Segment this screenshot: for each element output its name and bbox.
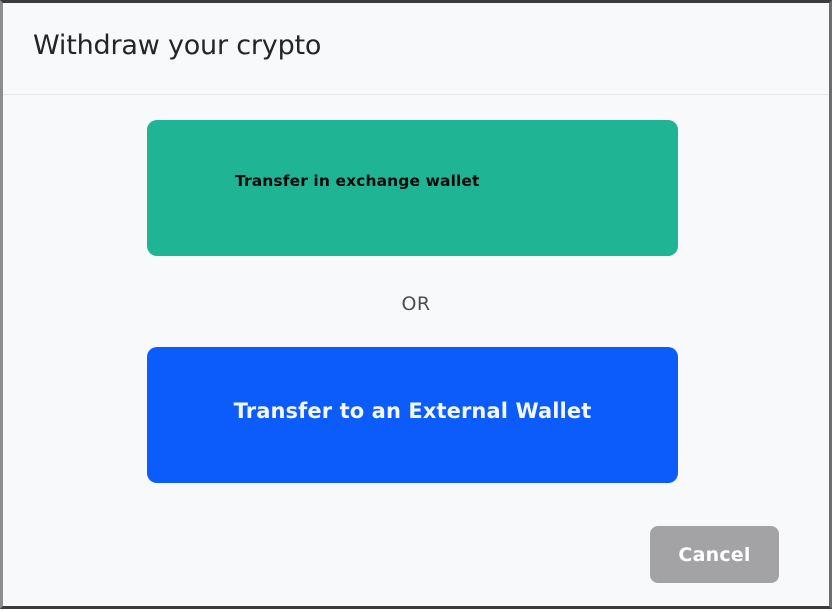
or-divider-label: OR [3, 293, 829, 315]
withdraw-crypto-dialog: Withdraw your crypto Transfer in exchang… [0, 0, 832, 609]
transfer-to-external-wallet-label: Transfer to an External Wallet [147, 399, 678, 423]
transfer-in-exchange-wallet-button[interactable]: Transfer in exchange wallet [147, 120, 678, 256]
dialog-header: Withdraw your crypto [3, 3, 829, 95]
transfer-to-external-wallet-button[interactable]: Transfer to an External Wallet [147, 347, 678, 483]
cancel-button[interactable]: Cancel [650, 526, 779, 583]
transfer-in-exchange-wallet-label: Transfer in exchange wallet [235, 172, 480, 190]
dialog-body: Transfer in exchange wallet OR Transfer … [3, 95, 829, 606]
dialog-footer: Cancel [3, 520, 829, 612]
page-title: Withdraw your crypto [33, 30, 321, 61]
